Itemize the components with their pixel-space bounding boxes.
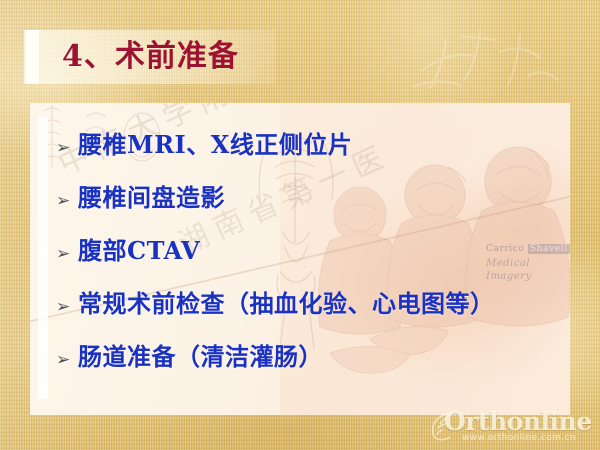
bullet-text: 腰椎MRI、X线正侧位片: [78, 125, 352, 160]
bullet-text: 腹部CTAV: [78, 231, 200, 266]
list-item: ➢ 腰椎MRI、X线正侧位片: [56, 125, 568, 178]
bullet-text: 常规术前检查（抽血化验、心电图等）: [78, 284, 495, 319]
list-item: ➢ 肠道准备（清洁灌肠）: [56, 337, 568, 390]
arrow-bullet-icon: ➢: [56, 246, 78, 263]
list-item: ➢ 腰椎间盘造影: [56, 178, 568, 231]
arrow-bullet-icon: ➢: [56, 299, 78, 316]
content-panel: 中南大学附属 湖南省第一医 Carrico Shavell Medical Im…: [30, 103, 570, 415]
arrow-bullet-icon: ➢: [56, 193, 78, 210]
title-accent-tab: [26, 30, 39, 84]
arrow-bullet-icon: ➢: [56, 140, 78, 157]
bullet-list: ➢ 腰椎MRI、X线正侧位片 ➢ 腰椎间盘造影 ➢ 腹部CTAV ➢ 常规术前检…: [56, 125, 568, 390]
content-accent-tab: [38, 117, 48, 399]
page-title: 4、术前准备: [62, 34, 239, 80]
presentation-slide: 4、术前准备: [0, 0, 600, 450]
arrow-bullet-icon: ➢: [56, 352, 78, 369]
list-item: ➢ 腹部CTAV: [56, 231, 568, 284]
bullet-text: 腰椎间盘造影: [78, 178, 225, 213]
list-item: ➢ 常规术前检查（抽血化验、心电图等）: [56, 284, 568, 337]
bullet-text: 肠道准备（清洁灌肠）: [78, 337, 323, 372]
